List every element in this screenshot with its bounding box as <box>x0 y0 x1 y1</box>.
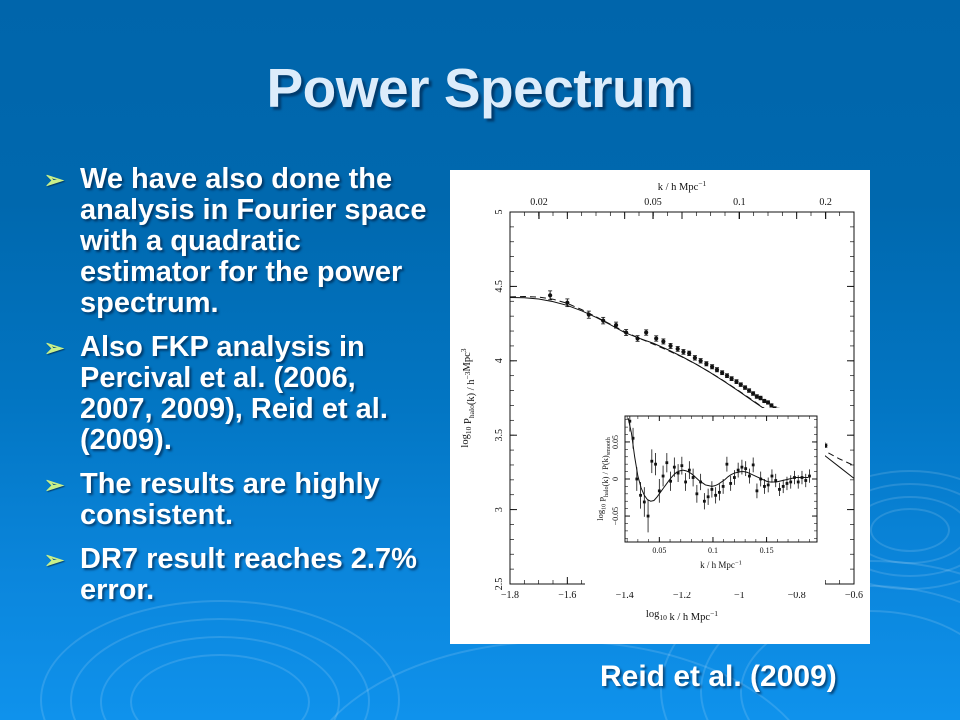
inset-data-point <box>680 464 683 467</box>
ripple-ring-icon <box>130 654 310 720</box>
y-axis-title: log10 Phalo(k) / h−3Mpc3 <box>459 348 477 447</box>
list-item: ➢ The results are highly consistent. <box>34 469 434 531</box>
power-spectrum-chart: −1.8−1.6−1.4−1.2−1−0.8−0.62.533.544.550.… <box>450 170 870 644</box>
data-point <box>743 385 747 389</box>
data-point <box>654 336 658 340</box>
arrow-bullet-icon: ➢ <box>44 550 68 574</box>
data-point <box>693 356 697 360</box>
inset-data-point <box>662 475 665 478</box>
inset-data-point <box>756 489 759 492</box>
inset-data-point <box>722 485 725 488</box>
list-item: ➢ DR7 result reaches 2.7% error. <box>34 544 434 606</box>
data-point <box>587 313 591 317</box>
x-axis-title: log10 k / h Mpc−1 <box>646 609 718 623</box>
data-point <box>644 330 648 334</box>
inset-data-point <box>808 475 811 478</box>
list-item-label: The results are highly consistent. <box>80 469 434 531</box>
inset-data-point <box>658 489 661 492</box>
data-point <box>739 383 743 387</box>
inset-data-point <box>650 460 653 463</box>
inset-data-point <box>703 500 706 503</box>
data-point <box>725 374 729 378</box>
data-point <box>624 330 628 334</box>
data-point <box>681 350 685 354</box>
inset-data-point <box>695 492 698 495</box>
data-point <box>704 362 708 366</box>
inset-data-point <box>786 482 789 485</box>
inset-y-tick-label: 0.05 <box>611 435 620 449</box>
inset-data-point <box>744 467 747 470</box>
data-point <box>699 359 703 363</box>
top-x-tick-label: 0.1 <box>733 197 746 208</box>
inset-data-point <box>748 475 751 478</box>
inset-data-point <box>797 481 800 484</box>
y-tick-label: 4 <box>494 358 505 363</box>
inset-data-point <box>759 478 762 481</box>
top-x-tick-label: 0.02 <box>530 197 548 208</box>
inset-data-point <box>684 481 687 484</box>
inset-data-point <box>643 501 646 504</box>
bullet-list: ➢ We have also done the analysis in Four… <box>34 164 434 619</box>
data-point <box>635 336 639 340</box>
data-point <box>687 351 691 355</box>
data-point <box>715 368 719 372</box>
inset-data-point <box>699 481 702 484</box>
data-point <box>601 319 605 323</box>
data-point <box>614 323 618 327</box>
inset-data-point <box>771 475 774 478</box>
data-point <box>747 388 751 392</box>
inset-data-point <box>801 476 804 479</box>
inset-data-point <box>763 485 766 488</box>
inset-x-tick-label: 0.05 <box>652 546 666 555</box>
data-point <box>710 365 714 369</box>
y-tick-label: 3 <box>494 507 505 512</box>
arrow-bullet-icon: ➢ <box>44 170 68 194</box>
top-x-tick-label: 0.2 <box>819 197 832 208</box>
inset-data-point <box>669 480 672 483</box>
power-spectrum-figure: −1.8−1.6−1.4−1.2−1−0.8−0.62.533.544.550.… <box>450 170 870 644</box>
y-tick-label: 3.5 <box>494 429 505 442</box>
data-point <box>729 377 733 381</box>
inset-data-point <box>710 488 713 491</box>
page-title: Power Spectrum <box>0 56 960 120</box>
inset-data-point <box>793 476 796 479</box>
inset-data-point <box>737 469 740 472</box>
data-point <box>668 344 672 348</box>
inset-data-point <box>654 463 657 466</box>
data-point <box>676 347 680 351</box>
data-point <box>720 371 724 375</box>
inset-data-point <box>692 476 695 479</box>
list-item-label: We have also done the analysis in Fourie… <box>80 164 434 319</box>
inset-data-point <box>767 484 770 487</box>
inset-data-point <box>752 464 755 467</box>
data-point <box>661 339 665 343</box>
inset-data-point <box>789 481 792 484</box>
inset-data-point <box>677 472 680 475</box>
ripple-ring-icon <box>100 636 340 720</box>
inset-data-point <box>639 494 642 497</box>
inset-data-point <box>673 466 676 469</box>
inset-data-point <box>647 515 650 518</box>
inset-data-point <box>729 482 732 485</box>
y-tick-label: 2.5 <box>494 578 505 591</box>
inset-data-point <box>707 495 710 498</box>
list-item-label: DR7 result reaches 2.7% error. <box>80 544 434 606</box>
inset-y-tick-label: −0.05 <box>611 507 620 526</box>
inset-data-point <box>688 469 691 472</box>
figure-credit: Reid et al. (2009) <box>600 660 837 694</box>
data-point <box>734 380 738 384</box>
inset-x-tick-label: 0.1 <box>708 546 718 555</box>
inset-data-point <box>628 420 631 423</box>
y-tick-label: 4.5 <box>494 280 505 293</box>
top-x-tick-label: 0.05 <box>644 197 662 208</box>
inset-x-tick-label: 0.15 <box>760 546 774 555</box>
inset-data-point <box>774 479 777 482</box>
inset-y-tick-label: 0 <box>611 477 620 481</box>
inset-data-point <box>733 476 736 479</box>
data-point <box>755 394 759 398</box>
inset-data-point <box>741 466 744 469</box>
inset-data-point <box>804 479 807 482</box>
data-point <box>548 293 552 297</box>
top-axis-title: k / h Mpc−1 <box>658 179 707 193</box>
inset-data-point <box>632 437 635 440</box>
ripple-ring-icon <box>870 508 950 552</box>
x-tick-label: −0.6 <box>845 590 863 601</box>
x-tick-label: −1.6 <box>558 590 576 601</box>
inset-data-point <box>725 463 728 466</box>
y-tick-label: 5 <box>494 210 505 215</box>
inset-data-point <box>782 485 785 488</box>
slide-canvas: Power Spectrum ➢ We have also done the a… <box>0 0 960 720</box>
data-point <box>758 396 762 400</box>
inset-data-point <box>714 494 717 497</box>
ripple-ring-icon <box>70 618 370 720</box>
arrow-bullet-icon: ➢ <box>44 475 68 499</box>
list-item: ➢ Also FKP analysis in Percival et al. (… <box>34 332 434 456</box>
inset-data-point <box>635 478 638 481</box>
x-tick-label: −1.8 <box>501 590 519 601</box>
list-item-label: Also FKP analysis in Percival et al. (20… <box>80 332 434 456</box>
inset-data-point <box>665 461 668 464</box>
data-point <box>565 301 569 305</box>
inset-data-point <box>718 491 721 494</box>
inset-data-point <box>778 488 781 491</box>
data-point <box>751 391 755 395</box>
arrow-bullet-icon: ➢ <box>44 338 68 362</box>
data-point <box>762 399 766 403</box>
list-item: ➢ We have also done the analysis in Four… <box>34 164 434 319</box>
